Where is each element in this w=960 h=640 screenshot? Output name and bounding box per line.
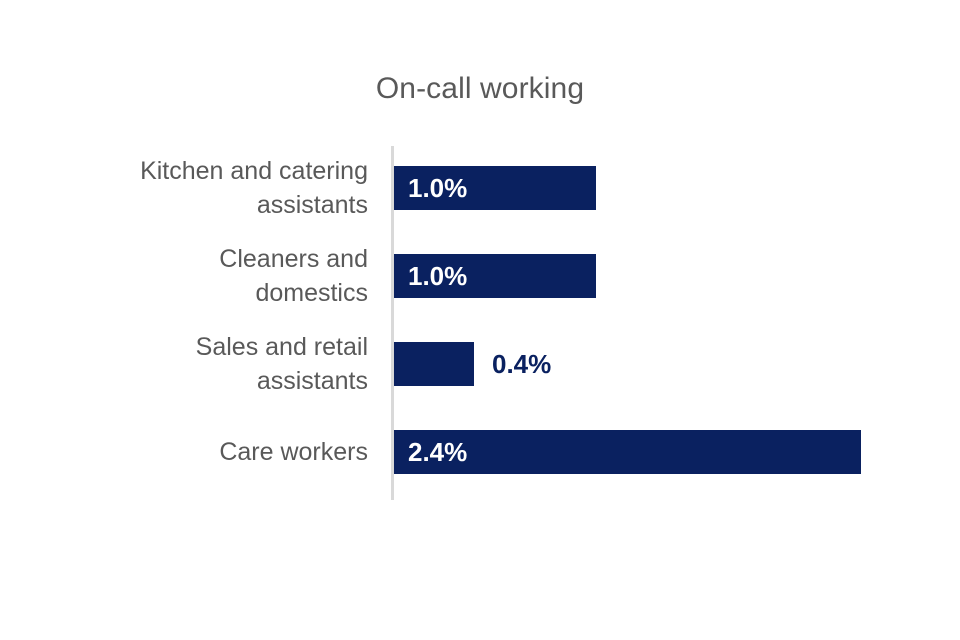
bar-row: Sales and retail assistants 0.4% [0, 342, 960, 386]
bar: 1.0% [394, 166, 596, 210]
category-label-line: Care workers [38, 435, 368, 469]
bar: 1.0% [394, 254, 596, 298]
bar-value-label: 0.4% [492, 342, 551, 386]
bar-row: Cleaners and domestics 1.0% [0, 254, 960, 298]
bar-value-label: 1.0% [408, 166, 467, 210]
bar-row: Kitchen and catering assistants 1.0% [0, 166, 960, 210]
category-label-line: Cleaners and [38, 242, 368, 276]
category-label: Care workers [38, 435, 368, 469]
bar: 2.4% [394, 430, 861, 474]
bar-value-label: 2.4% [408, 430, 467, 474]
category-label-line: Kitchen and catering [38, 154, 368, 188]
category-label-line: domestics [38, 276, 368, 310]
category-label-line: Sales and retail [38, 330, 368, 364]
bar [394, 342, 474, 386]
chart-container: On-call working Kitchen and catering ass… [0, 0, 960, 640]
category-label: Cleaners and domestics [38, 242, 368, 310]
category-label-line: assistants [38, 188, 368, 222]
bar-value-label: 1.0% [408, 254, 467, 298]
category-label: Sales and retail assistants [38, 330, 368, 398]
bar-row: Care workers 2.4% [0, 430, 960, 474]
plot-area: Kitchen and catering assistants 1.0% Cle… [0, 0, 960, 640]
category-label: Kitchen and catering assistants [38, 154, 368, 222]
category-label-line: assistants [38, 364, 368, 398]
